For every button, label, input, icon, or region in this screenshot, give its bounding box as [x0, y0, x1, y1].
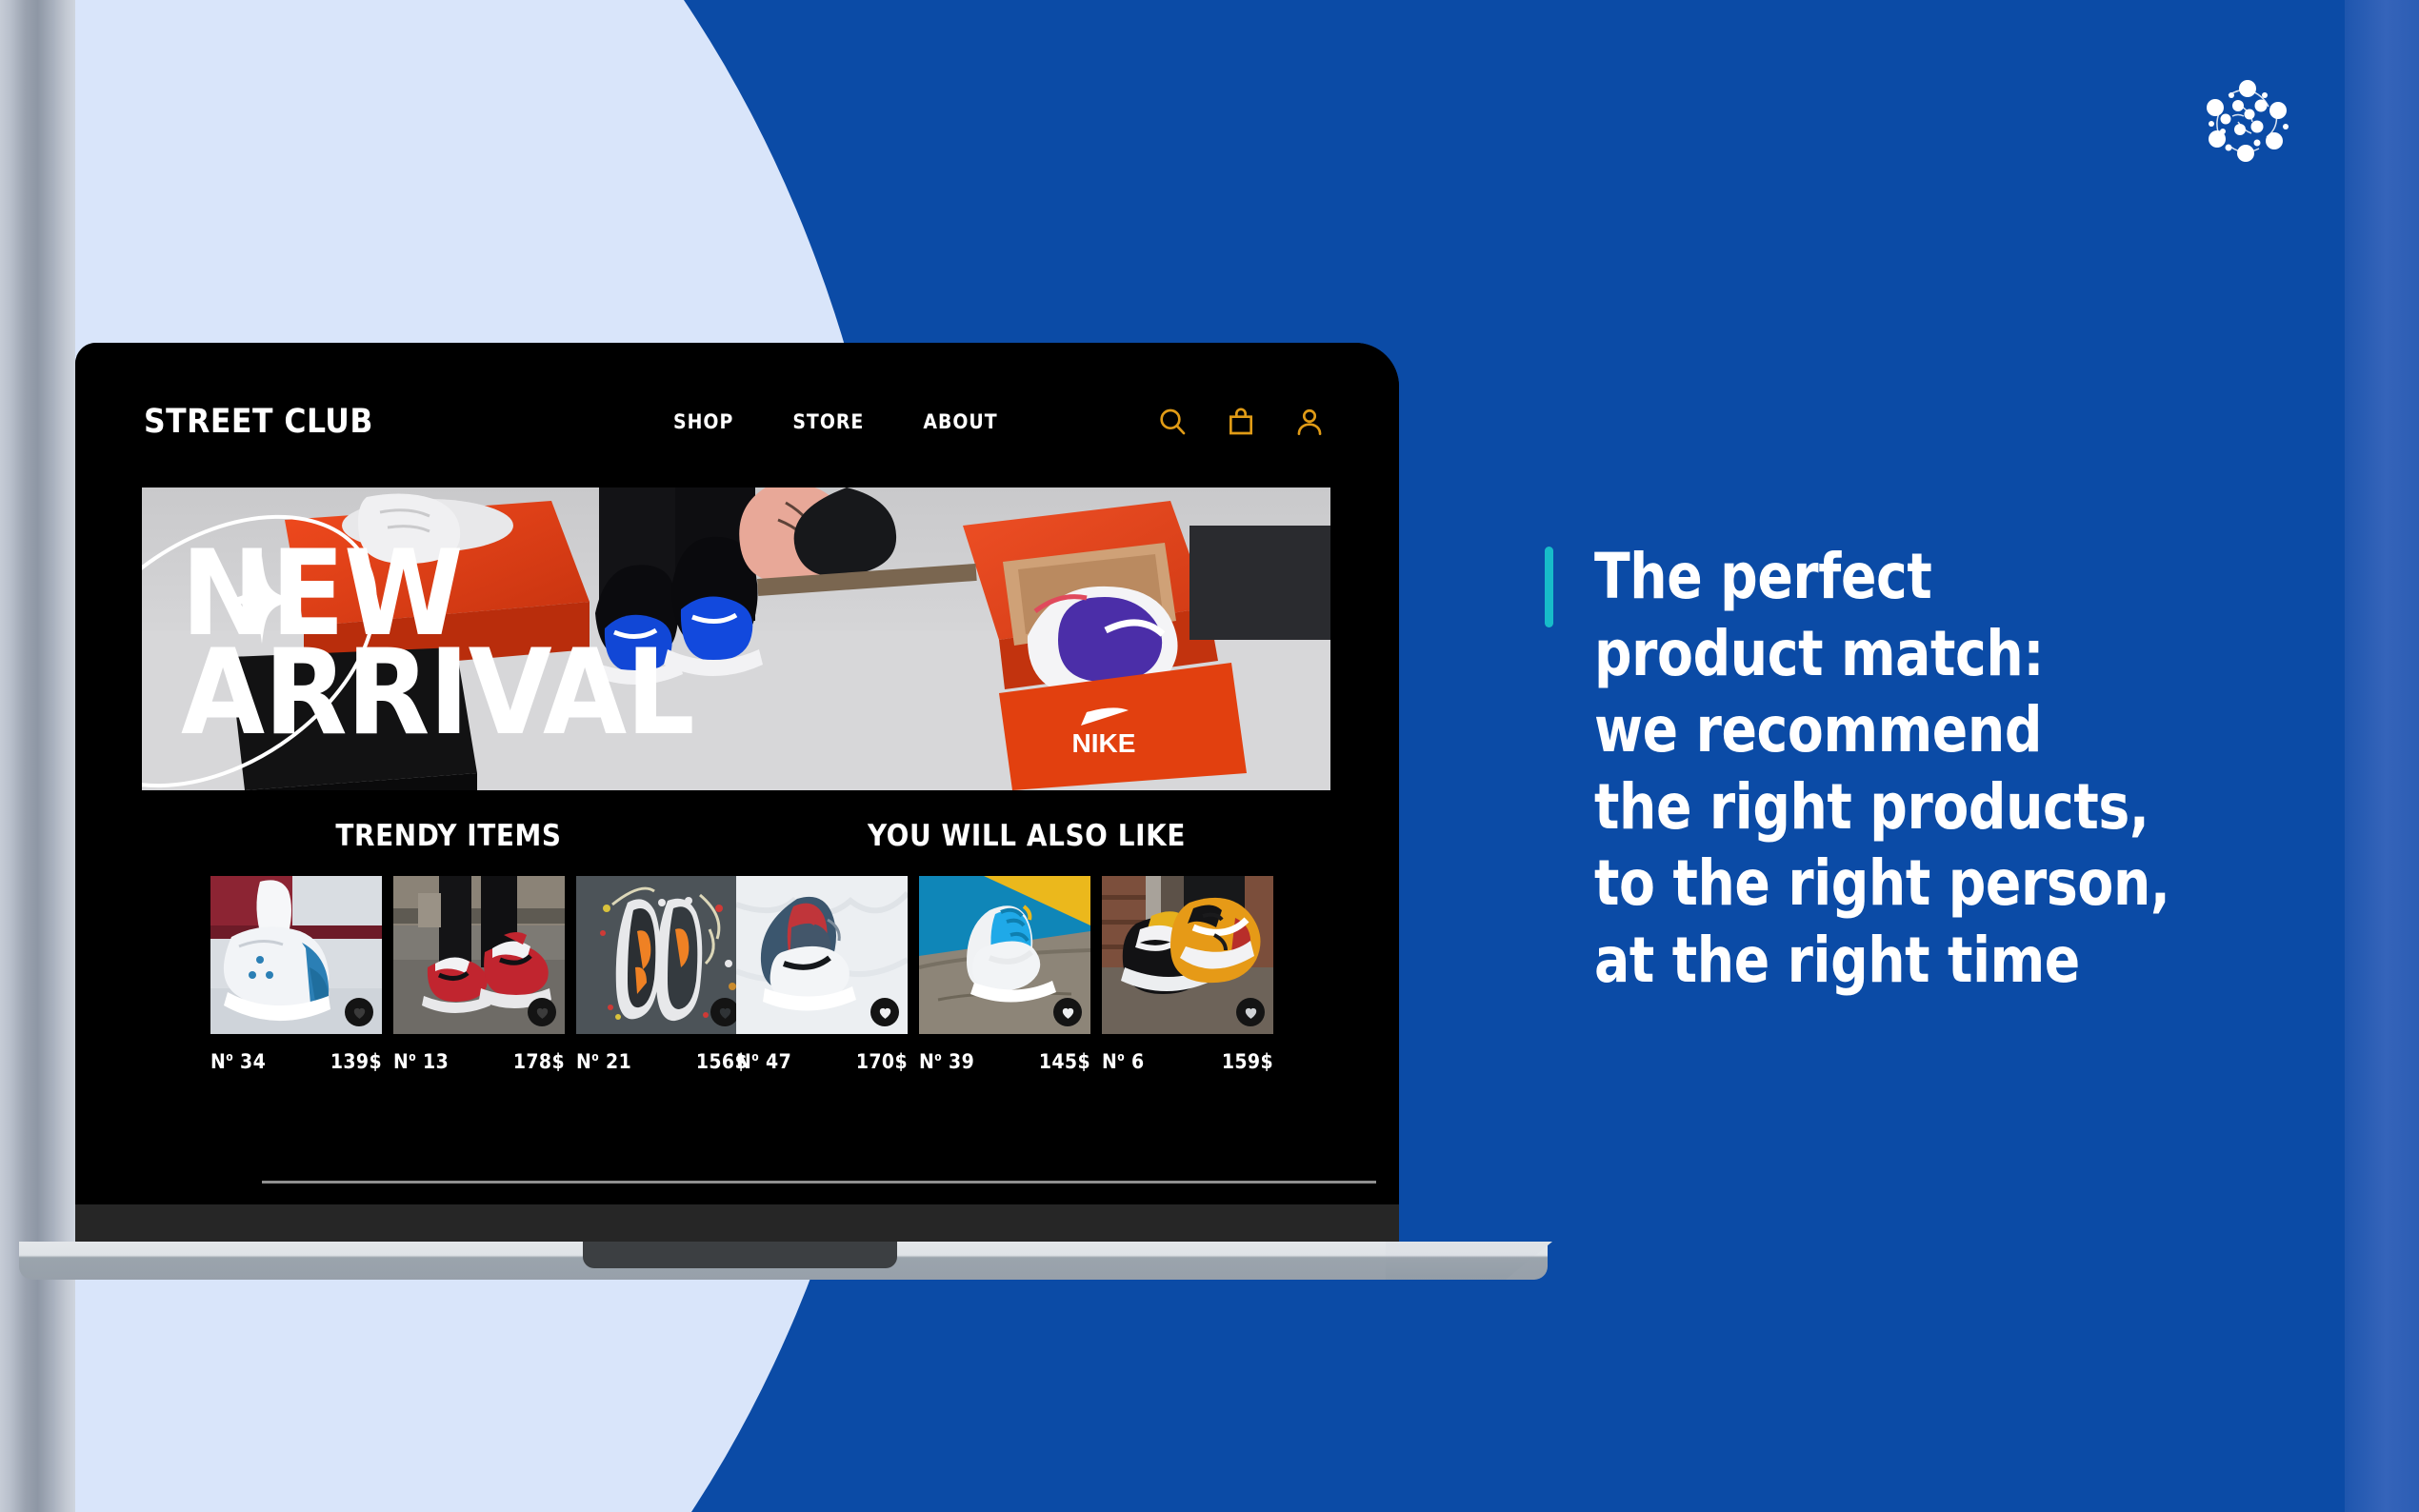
favorite-button[interactable]	[1053, 998, 1082, 1026]
laptop-hinge-notch	[583, 1242, 897, 1268]
network-nodes-icon	[2200, 74, 2295, 169]
heart-icon	[717, 1005, 733, 1021]
background-right-edge-gradient	[2345, 0, 2419, 1512]
product-thumbnail[interactable]	[736, 876, 908, 1034]
favorite-button[interactable]	[1236, 998, 1265, 1026]
product-sku: No 6	[1102, 1050, 1145, 1073]
product-card[interactable]: No 6 159$	[1102, 876, 1273, 1073]
product-meta: No 13 178$	[393, 1050, 565, 1073]
product-sku: No 39	[919, 1050, 974, 1073]
product-thumbnail[interactable]	[919, 876, 1090, 1034]
product-card[interactable]: No 34 139$	[210, 876, 382, 1073]
product-thumbnail[interactable]	[393, 876, 565, 1034]
product-meta: No 34 139$	[210, 1050, 382, 1073]
favorite-button[interactable]	[345, 998, 373, 1026]
section-title: YOU WILL ALSO LIKE	[736, 819, 1317, 853]
website-viewport: STREET CLUB SHOP STORE ABOUT	[75, 343, 1399, 1204]
headline-block: The perfect product match: we recommend …	[1545, 539, 2288, 999]
product-sku: No 21	[576, 1050, 631, 1073]
product-meta: No 47 170$	[736, 1050, 908, 1073]
hero-title: NEW ARRIVAL	[142, 487, 1296, 743]
favorite-button[interactable]	[710, 998, 739, 1026]
favorite-button[interactable]	[870, 998, 899, 1026]
laptop-mockup: STREET CLUB SHOP STORE ABOUT	[0, 0, 1619, 1333]
user-account-icon[interactable]	[1294, 407, 1325, 437]
page-title: The perfect product match: we recommend …	[1594, 539, 2170, 999]
shopping-bag-icon[interactable]	[1226, 407, 1256, 437]
product-thumbnail[interactable]	[210, 876, 382, 1034]
product-sku: No 13	[393, 1050, 449, 1073]
site-navbar: STREET CLUB SHOP STORE ABOUT	[75, 381, 1399, 463]
product-thumbnail[interactable]	[576, 876, 748, 1034]
heart-icon	[1243, 1005, 1259, 1021]
site-nav-icons	[1157, 407, 1325, 437]
product-price: 159$	[1222, 1050, 1273, 1073]
nav-link-shop[interactable]: SHOP	[673, 410, 733, 433]
slide-canvas: The perfect product match: we recommend …	[0, 0, 2419, 1512]
product-sku: No 47	[736, 1050, 791, 1073]
product-card-list: No 47 170$	[736, 876, 1317, 1073]
product-price: 139$	[330, 1050, 382, 1073]
product-card[interactable]: No 13 178$	[393, 876, 565, 1073]
section-trendy-items: TRENDY ITEMS	[210, 819, 687, 1073]
product-price: 170$	[856, 1050, 908, 1073]
product-thumbnail[interactable]	[1102, 876, 1273, 1034]
product-card[interactable]: No 39 145$	[919, 876, 1090, 1073]
heart-icon	[877, 1005, 893, 1021]
section-title: TRENDY ITEMS	[210, 819, 687, 853]
search-icon[interactable]	[1157, 407, 1188, 437]
product-meta: No 21 156$	[576, 1050, 748, 1073]
laptop-screen: STREET CLUB SHOP STORE ABOUT	[75, 343, 1399, 1204]
product-meta: No 6 159$	[1102, 1050, 1273, 1073]
heart-icon	[1060, 1005, 1076, 1021]
nav-link-store[interactable]: STORE	[792, 410, 864, 433]
product-sku: No 34	[210, 1050, 266, 1073]
product-meta: No 39 145$	[919, 1050, 1090, 1073]
screen-bottom-divider	[262, 1181, 1376, 1184]
product-price: 178$	[513, 1050, 565, 1073]
section-you-will-also-like: YOU WILL ALSO LIKE	[736, 819, 1317, 1073]
product-card-list: No 34 139$	[210, 876, 687, 1073]
product-price: 145$	[1039, 1050, 1090, 1073]
heart-icon	[534, 1005, 550, 1021]
product-card[interactable]: No 21 156$	[576, 876, 748, 1073]
site-nav-links: SHOP STORE ABOUT	[673, 410, 998, 433]
product-card[interactable]: No 47 170$	[736, 876, 908, 1073]
site-logo[interactable]: STREET CLUB	[144, 403, 373, 441]
favorite-button[interactable]	[528, 998, 556, 1026]
heart-icon	[351, 1005, 368, 1021]
hero-banner[interactable]: NIKE NEW ARRIVAL	[142, 487, 1330, 790]
nav-link-about[interactable]: ABOUT	[923, 410, 997, 433]
